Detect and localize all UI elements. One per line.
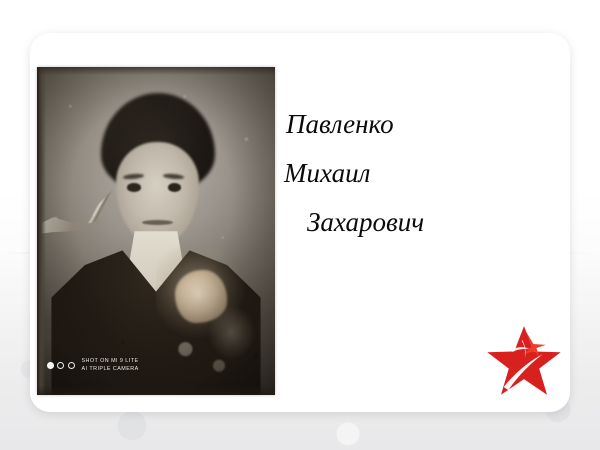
name-surname: Павленко [286, 111, 554, 138]
watermark-lens-dots-icon [47, 362, 75, 369]
name-firstname: Михаил [284, 160, 554, 187]
watermark-line-1: SHOT ON MI 9 LITE [82, 358, 139, 366]
name-block: Павленко Михаил Захарович [282, 111, 554, 236]
portrait-photo: SHOT ON MI 9 LITE AI TRIPLE CAMERA [37, 67, 275, 395]
watermark-line-2: AI TRIPLE CAMERA [82, 366, 139, 374]
photo-left-edge [37, 67, 46, 395]
photo-bottom-edge [37, 385, 275, 395]
watermark-text: SHOT ON MI 9 LITE AI TRIPLE CAMERA [82, 358, 139, 374]
victory-star-icon [485, 323, 563, 401]
star-shape [487, 326, 560, 395]
photo-top-edge [37, 67, 275, 75]
memorial-card: SHOT ON MI 9 LITE AI TRIPLE CAMERA Павле… [30, 33, 570, 412]
photo-grain [37, 67, 275, 395]
camera-watermark: SHOT ON MI 9 LITE AI TRIPLE CAMERA [47, 358, 139, 374]
name-patronymic: Захарович [307, 209, 554, 236]
